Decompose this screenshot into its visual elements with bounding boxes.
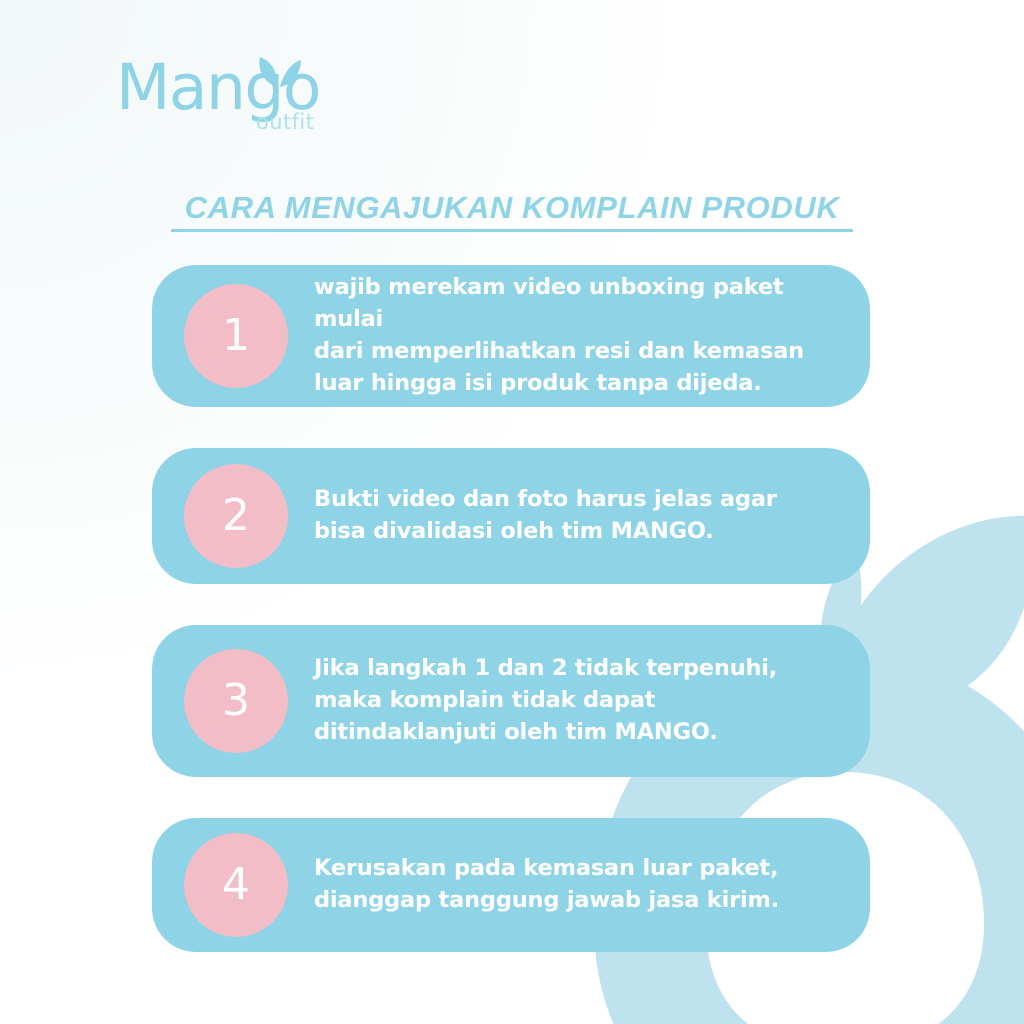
- list-item: 4 Kerusakan pada kemasan luar paket, dia…: [152, 818, 870, 952]
- brand-tagline: outfit: [256, 112, 314, 133]
- step-number-badge: 2: [184, 464, 288, 568]
- poster-canvas: Mango outfit CARA MENGAJUKAN KOMPLAIN PR…: [0, 0, 1024, 1024]
- list-item: 1 wajib merekam video unboxing paket mul…: [152, 265, 870, 407]
- step-number: 3: [222, 679, 250, 723]
- brand-logo: Mango outfit: [116, 56, 446, 151]
- steps-list: 1 wajib merekam video unboxing paket mul…: [152, 265, 870, 952]
- step-text: Jika langkah 1 dan 2 tidak terpenuhi, ma…: [314, 653, 777, 749]
- step-number-badge: 1: [184, 284, 288, 388]
- mango-leaf-icon: [255, 54, 301, 88]
- step-text: wajib merekam video unboxing paket mulai…: [314, 272, 840, 400]
- page-title: CARA MENGAJUKAN KOMPLAIN PRODUK: [0, 190, 1024, 232]
- step-text: Bukti video dan foto harus jelas agar bi…: [314, 484, 777, 548]
- step-number: 1: [222, 314, 250, 358]
- step-number-badge: 4: [184, 833, 288, 937]
- page-title-text: CARA MENGAJUKAN KOMPLAIN PRODUK: [171, 190, 852, 232]
- step-number-badge: 3: [184, 649, 288, 753]
- step-number: 2: [222, 494, 250, 538]
- list-item: 3 Jika langkah 1 dan 2 tidak terpenuhi, …: [152, 625, 870, 777]
- step-text: Kerusakan pada kemasan luar paket, diang…: [314, 853, 779, 917]
- list-item: 2 Bukti video dan foto harus jelas agar …: [152, 448, 870, 584]
- step-number: 4: [222, 863, 250, 907]
